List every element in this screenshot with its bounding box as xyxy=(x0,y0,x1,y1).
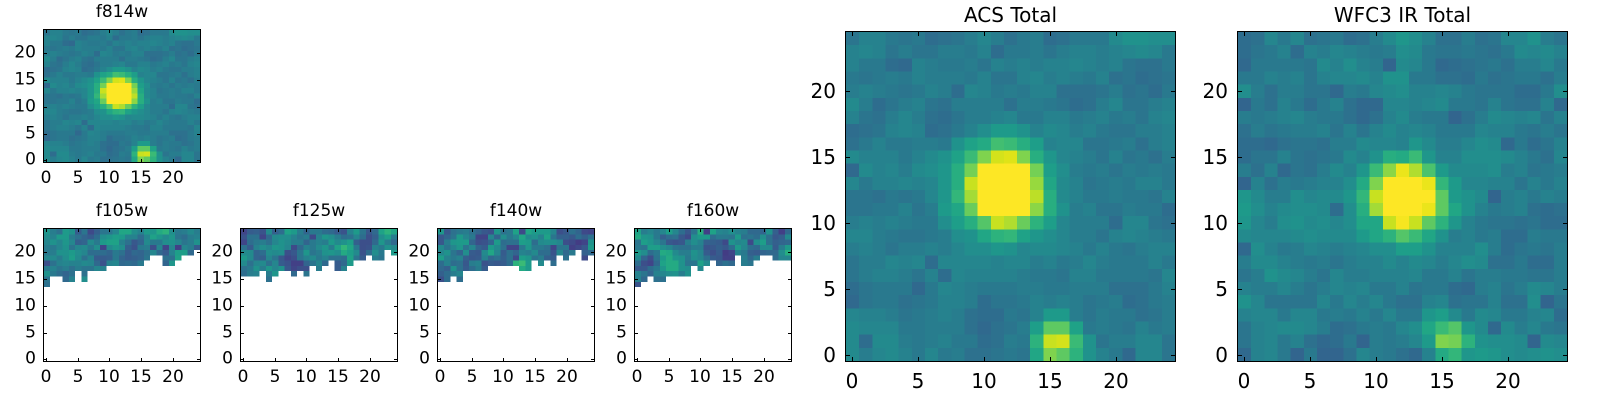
ytick-right-f125w-4 xyxy=(394,252,398,253)
xtick-f125w-3 xyxy=(338,358,339,362)
yticklabel-f814w-2: 10 xyxy=(0,99,36,116)
xticklabel-wfc3-ir-total-0: 0 xyxy=(1238,371,1251,391)
yticklabel-wfc3-ir-total-4: 20 xyxy=(1168,81,1228,101)
yticklabel-f160w-2: 10 xyxy=(567,298,627,315)
xtick-f160w-4 xyxy=(764,358,765,362)
xticklabel-f814w-4: 20 xyxy=(162,170,184,187)
panel-wfc3-ir-total: WFC3 IR Total0510152005101520 xyxy=(0,0,1600,400)
ytick-f160w-3 xyxy=(634,279,638,280)
panel-title-f160w: f160w xyxy=(634,203,792,220)
panel-title-f814w: f814w xyxy=(43,4,201,21)
ytick-wfc3-ir-total-2 xyxy=(1237,223,1242,224)
yticklabel-f160w-4: 20 xyxy=(567,244,627,261)
xticklabel-f125w-4: 20 xyxy=(359,369,381,386)
ytick-right-acs-total-3 xyxy=(1171,157,1176,158)
ytick-f140w-0 xyxy=(437,359,441,360)
heatmap-image-f125w xyxy=(241,229,397,361)
xtick-acs-total-0 xyxy=(852,357,853,362)
panel-acs-total: ACS Total0510152005101520 xyxy=(0,0,1600,400)
ytick-f160w-0 xyxy=(634,359,638,360)
yticklabel-f140w-0: 0 xyxy=(370,351,430,368)
panel-title-acs-total: ACS Total xyxy=(845,5,1176,25)
xtick-top-f105w-0 xyxy=(46,228,47,232)
ytick-right-f160w-2 xyxy=(788,306,792,307)
xticklabel-f814w-0: 0 xyxy=(41,170,52,187)
heatmap-image-acs-total xyxy=(846,32,1175,361)
ytick-f814w-3 xyxy=(43,80,47,81)
ytick-f105w-3 xyxy=(43,279,47,280)
ytick-f140w-3 xyxy=(437,279,441,280)
xticklabel-f140w-2: 10 xyxy=(492,369,514,386)
xtick-top-f140w-1 xyxy=(472,228,473,232)
xtick-f125w-0 xyxy=(243,358,244,362)
ytick-right-wfc3-ir-total-1 xyxy=(1563,289,1568,290)
ytick-right-f814w-4 xyxy=(197,53,201,54)
xtick-top-f160w-2 xyxy=(700,228,701,232)
xtick-wfc3-ir-total-3 xyxy=(1442,357,1443,362)
xticklabel-acs-total-3: 15 xyxy=(1037,371,1062,391)
xtick-f160w-2 xyxy=(700,358,701,362)
ytick-f105w-2 xyxy=(43,306,47,307)
xtick-f814w-4 xyxy=(173,159,174,163)
ytick-right-acs-total-2 xyxy=(1171,223,1176,224)
ytick-acs-total-0 xyxy=(845,355,850,356)
ytick-right-f105w-2 xyxy=(197,306,201,307)
ytick-right-f140w-4 xyxy=(591,252,595,253)
yticklabel-f814w-1: 5 xyxy=(0,126,36,143)
panel-title-f105w: f105w xyxy=(43,203,201,220)
heatmap-image-f140w xyxy=(438,229,594,361)
xtick-top-f140w-3 xyxy=(535,228,536,232)
xtick-top-f125w-4 xyxy=(370,228,371,232)
ytick-f160w-1 xyxy=(634,333,638,334)
yticklabel-f105w-2: 10 xyxy=(0,298,36,315)
yticklabel-f105w-3: 15 xyxy=(0,271,36,288)
panel-f105w: f105w0510152005101520 xyxy=(0,0,1600,400)
ytick-wfc3-ir-total-4 xyxy=(1237,91,1242,92)
yticklabel-f105w-4: 20 xyxy=(0,244,36,261)
xtick-top-f105w-3 xyxy=(141,228,142,232)
panel-f125w: f125w0510152005101520 xyxy=(0,0,1600,400)
panel-f814w: f814w0510152005101520 xyxy=(0,0,1600,400)
xticklabel-f814w-3: 15 xyxy=(130,170,152,187)
xticklabel-f125w-3: 15 xyxy=(327,369,349,386)
heatmap-image-f814w xyxy=(44,30,200,162)
ytick-f125w-0 xyxy=(240,359,244,360)
xtick-top-f105w-4 xyxy=(173,228,174,232)
xticklabel-f125w-1: 5 xyxy=(270,369,281,386)
xticklabel-wfc3-ir-total-2: 10 xyxy=(1363,371,1388,391)
xtick-top-wfc3-ir-total-3 xyxy=(1442,31,1443,36)
xtick-top-f814w-0 xyxy=(46,29,47,33)
xtick-top-f125w-3 xyxy=(338,228,339,232)
xtick-top-f125w-0 xyxy=(243,228,244,232)
yticklabel-f140w-4: 20 xyxy=(370,244,430,261)
ytick-right-acs-total-1 xyxy=(1171,289,1176,290)
ytick-f140w-2 xyxy=(437,306,441,307)
xticklabel-f125w-0: 0 xyxy=(238,369,249,386)
yticklabel-wfc3-ir-total-1: 5 xyxy=(1168,279,1228,299)
xtick-f140w-1 xyxy=(472,358,473,362)
plot-area-f105w xyxy=(43,228,201,362)
xtick-f160w-1 xyxy=(669,358,670,362)
xtick-top-f160w-1 xyxy=(669,228,670,232)
xtick-f105w-3 xyxy=(141,358,142,362)
yticklabel-f160w-3: 15 xyxy=(567,271,627,288)
plot-area-f814w xyxy=(43,29,201,163)
heatmap-image-wfc3-ir-total xyxy=(1238,32,1567,361)
yticklabel-acs-total-0: 0 xyxy=(776,345,836,365)
ytick-f814w-0 xyxy=(43,160,47,161)
ytick-f140w-4 xyxy=(437,252,441,253)
plot-area-acs-total xyxy=(845,31,1176,362)
ytick-right-acs-total-0 xyxy=(1171,355,1176,356)
yticklabel-f105w-1: 5 xyxy=(0,325,36,342)
xtick-f125w-1 xyxy=(275,358,276,362)
ytick-right-f814w-0 xyxy=(197,160,201,161)
xtick-f125w-4 xyxy=(370,358,371,362)
ytick-f105w-0 xyxy=(43,359,47,360)
ytick-right-f125w-0 xyxy=(394,359,398,360)
ytick-right-f140w-2 xyxy=(591,306,595,307)
ytick-right-f160w-0 xyxy=(788,359,792,360)
ytick-right-f125w-2 xyxy=(394,306,398,307)
ytick-right-f105w-1 xyxy=(197,333,201,334)
xtick-top-f814w-3 xyxy=(141,29,142,33)
xtick-top-acs-total-0 xyxy=(852,31,853,36)
xtick-top-f160w-3 xyxy=(732,228,733,232)
xticklabel-f105w-1: 5 xyxy=(73,369,84,386)
xtick-top-f140w-0 xyxy=(440,228,441,232)
ytick-wfc3-ir-total-1 xyxy=(1237,289,1242,290)
xtick-f814w-2 xyxy=(109,159,110,163)
xtick-top-wfc3-ir-total-2 xyxy=(1376,31,1377,36)
xtick-top-f125w-1 xyxy=(275,228,276,232)
panel-title-wfc3-ir-total: WFC3 IR Total xyxy=(1237,5,1568,25)
xticklabel-f814w-1: 5 xyxy=(73,170,84,187)
xtick-top-wfc3-ir-total-4 xyxy=(1508,31,1509,36)
ytick-right-acs-total-4 xyxy=(1171,91,1176,92)
xtick-acs-total-4 xyxy=(1116,357,1117,362)
xticklabel-f125w-2: 10 xyxy=(295,369,317,386)
panel-f140w: f140w0510152005101520 xyxy=(0,0,1600,400)
panel-title-f125w: f125w xyxy=(240,203,398,220)
panel-f160w: f160w0510152005101520 xyxy=(0,0,1600,400)
plot-area-wfc3-ir-total xyxy=(1237,31,1568,362)
xtick-f814w-1 xyxy=(78,159,79,163)
xtick-f160w-3 xyxy=(732,358,733,362)
yticklabel-acs-total-3: 15 xyxy=(776,147,836,167)
ytick-wfc3-ir-total-0 xyxy=(1237,355,1242,356)
yticklabel-wfc3-ir-total-3: 15 xyxy=(1168,147,1228,167)
xtick-f125w-2 xyxy=(306,358,307,362)
ytick-right-f814w-1 xyxy=(197,134,201,135)
xtick-top-f160w-0 xyxy=(637,228,638,232)
xtick-top-f814w-4 xyxy=(173,29,174,33)
yticklabel-f105w-0: 0 xyxy=(0,351,36,368)
xtick-top-f140w-2 xyxy=(503,228,504,232)
ytick-wfc3-ir-total-3 xyxy=(1237,157,1242,158)
ytick-right-wfc3-ir-total-0 xyxy=(1563,355,1568,356)
xtick-f105w-4 xyxy=(173,358,174,362)
ytick-right-f140w-1 xyxy=(591,333,595,334)
yticklabel-f814w-4: 20 xyxy=(0,45,36,62)
ytick-right-f160w-3 xyxy=(788,279,792,280)
yticklabel-f814w-0: 0 xyxy=(0,152,36,169)
ytick-f814w-1 xyxy=(43,134,47,135)
ytick-f105w-4 xyxy=(43,252,47,253)
ytick-f125w-3 xyxy=(240,279,244,280)
ytick-right-f105w-4 xyxy=(197,252,201,253)
xtick-top-acs-total-4 xyxy=(1116,31,1117,36)
yticklabel-f814w-3: 15 xyxy=(0,72,36,89)
ytick-right-f140w-0 xyxy=(591,359,595,360)
yticklabel-wfc3-ir-total-0: 0 xyxy=(1168,345,1228,365)
xtick-acs-total-3 xyxy=(1050,357,1051,362)
xtick-top-acs-total-1 xyxy=(918,31,919,36)
xtick-f105w-0 xyxy=(46,358,47,362)
xtick-top-f105w-2 xyxy=(109,228,110,232)
xticklabel-f160w-0: 0 xyxy=(632,369,643,386)
xtick-wfc3-ir-total-4 xyxy=(1508,357,1509,362)
xtick-f140w-0 xyxy=(440,358,441,362)
xticklabel-f814w-2: 10 xyxy=(98,170,120,187)
ytick-acs-total-4 xyxy=(845,91,850,92)
xtick-f814w-3 xyxy=(141,159,142,163)
ytick-f160w-2 xyxy=(634,306,638,307)
yticklabel-acs-total-2: 10 xyxy=(776,213,836,233)
ytick-right-f160w-1 xyxy=(788,333,792,334)
xtick-f105w-2 xyxy=(109,358,110,362)
xtick-top-f140w-4 xyxy=(567,228,568,232)
xticklabel-f160w-3: 15 xyxy=(721,369,743,386)
ytick-f814w-2 xyxy=(43,107,47,108)
ytick-acs-total-3 xyxy=(845,157,850,158)
xtick-f105w-1 xyxy=(78,358,79,362)
xtick-f140w-4 xyxy=(567,358,568,362)
yticklabel-f160w-1: 5 xyxy=(567,325,627,342)
plot-area-f160w xyxy=(634,228,792,362)
xticklabel-acs-total-0: 0 xyxy=(846,371,859,391)
ytick-right-f125w-3 xyxy=(394,279,398,280)
yticklabel-f125w-2: 10 xyxy=(173,298,233,315)
ytick-f125w-4 xyxy=(240,252,244,253)
xtick-f160w-0 xyxy=(637,358,638,362)
ytick-acs-total-2 xyxy=(845,223,850,224)
ytick-right-f814w-3 xyxy=(197,80,201,81)
yticklabel-f125w-1: 5 xyxy=(173,325,233,342)
xticklabel-wfc3-ir-total-4: 20 xyxy=(1495,371,1520,391)
xtick-wfc3-ir-total-0 xyxy=(1244,357,1245,362)
yticklabel-f125w-0: 0 xyxy=(173,351,233,368)
xticklabel-f140w-1: 5 xyxy=(467,369,478,386)
xtick-acs-total-1 xyxy=(918,357,919,362)
ytick-right-wfc3-ir-total-2 xyxy=(1563,223,1568,224)
ytick-right-f105w-0 xyxy=(197,359,201,360)
ytick-f160w-4 xyxy=(634,252,638,253)
xtick-wfc3-ir-total-2 xyxy=(1376,357,1377,362)
xticklabel-f140w-3: 15 xyxy=(524,369,546,386)
ytick-f125w-2 xyxy=(240,306,244,307)
heatmap-image-f105w xyxy=(44,229,200,361)
xtick-f140w-3 xyxy=(535,358,536,362)
xtick-top-wfc3-ir-total-0 xyxy=(1244,31,1245,36)
xticklabel-acs-total-1: 5 xyxy=(912,371,925,391)
ytick-f125w-1 xyxy=(240,333,244,334)
plot-area-f125w xyxy=(240,228,398,362)
xticklabel-f160w-2: 10 xyxy=(689,369,711,386)
xtick-top-wfc3-ir-total-1 xyxy=(1310,31,1311,36)
yticklabel-f160w-0: 0 xyxy=(567,351,627,368)
yticklabel-f125w-3: 15 xyxy=(173,271,233,288)
xticklabel-f105w-0: 0 xyxy=(41,369,52,386)
xticklabel-wfc3-ir-total-3: 15 xyxy=(1429,371,1454,391)
yticklabel-acs-total-1: 5 xyxy=(776,279,836,299)
heatmap-image-f160w xyxy=(635,229,791,361)
ytick-f814w-4 xyxy=(43,53,47,54)
yticklabel-f140w-3: 15 xyxy=(370,271,430,288)
xticklabel-f105w-4: 20 xyxy=(162,369,184,386)
xtick-top-f814w-2 xyxy=(109,29,110,33)
xticklabel-f140w-0: 0 xyxy=(435,369,446,386)
yticklabel-f125w-4: 20 xyxy=(173,244,233,261)
xtick-f814w-0 xyxy=(46,159,47,163)
xtick-top-f105w-1 xyxy=(78,228,79,232)
xtick-top-f814w-1 xyxy=(78,29,79,33)
yticklabel-f140w-2: 10 xyxy=(370,298,430,315)
yticklabel-f140w-1: 5 xyxy=(370,325,430,342)
ytick-right-f160w-4 xyxy=(788,252,792,253)
xtick-wfc3-ir-total-1 xyxy=(1310,357,1311,362)
xticklabel-wfc3-ir-total-1: 5 xyxy=(1304,371,1317,391)
ytick-right-f125w-1 xyxy=(394,333,398,334)
xticklabel-f160w-4: 20 xyxy=(753,369,775,386)
ytick-right-f105w-3 xyxy=(197,279,201,280)
xtick-f140w-2 xyxy=(503,358,504,362)
ytick-acs-total-1 xyxy=(845,289,850,290)
ytick-right-f814w-2 xyxy=(197,107,201,108)
xticklabel-acs-total-2: 10 xyxy=(971,371,996,391)
ytick-right-f140w-3 xyxy=(591,279,595,280)
ytick-right-wfc3-ir-total-4 xyxy=(1563,91,1568,92)
ytick-f140w-1 xyxy=(437,333,441,334)
yticklabel-wfc3-ir-total-2: 10 xyxy=(1168,213,1228,233)
plot-area-f140w xyxy=(437,228,595,362)
ytick-f105w-1 xyxy=(43,333,47,334)
xtick-top-acs-total-2 xyxy=(984,31,985,36)
xticklabel-acs-total-4: 20 xyxy=(1103,371,1128,391)
xtick-top-acs-total-3 xyxy=(1050,31,1051,36)
yticklabel-acs-total-4: 20 xyxy=(776,81,836,101)
panel-title-f140w: f140w xyxy=(437,203,595,220)
xticklabel-f105w-2: 10 xyxy=(98,369,120,386)
xticklabel-f160w-1: 5 xyxy=(664,369,675,386)
xtick-top-f160w-4 xyxy=(764,228,765,232)
xticklabel-f105w-3: 15 xyxy=(130,369,152,386)
ytick-right-wfc3-ir-total-3 xyxy=(1563,157,1568,158)
xtick-acs-total-2 xyxy=(984,357,985,362)
xticklabel-f140w-4: 20 xyxy=(556,369,578,386)
xtick-top-f125w-2 xyxy=(306,228,307,232)
